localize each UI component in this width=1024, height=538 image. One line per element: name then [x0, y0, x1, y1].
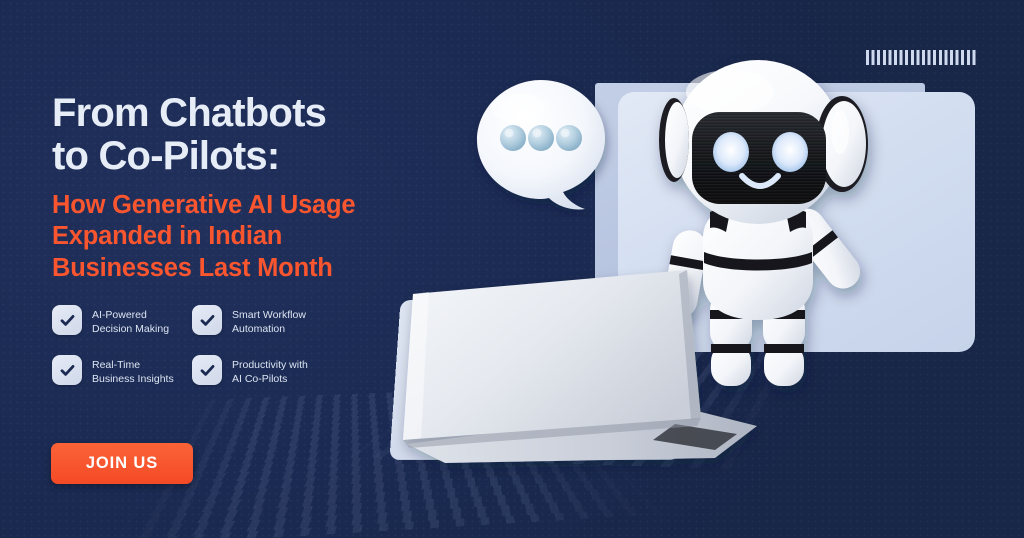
headline-line-2: to Co-Pilots: — [52, 135, 472, 178]
feature-list: AI-Powered Decision Making Smart Workflo… — [52, 305, 382, 405]
subheadline-block: How Generative AI Usage Expanded in Indi… — [52, 190, 472, 283]
subheadline-line-1: How Generative AI Usage — [52, 190, 472, 221]
feature-label: AI-Powered Decision Making — [92, 305, 169, 336]
headline-block: From Chatbots to Co-Pilots: How Generati… — [52, 92, 472, 284]
headline-line-1: From Chatbots — [52, 92, 472, 135]
check-icon — [192, 355, 222, 385]
feature-item-smart-workflow-automation: Smart Workflow Automation — [192, 305, 337, 355]
feature-label: Real-Time Business Insights — [92, 355, 174, 386]
feature-label: Productivity with AI Co-Pilots — [232, 355, 308, 386]
check-icon — [52, 305, 82, 335]
subheadline-line-2: Expanded in Indian — [52, 221, 472, 252]
feature-item-productivity-with-ai-co-pilots: Productivity with AI Co-Pilots — [192, 355, 337, 405]
feature-item-real-time-business-insights: Real-Time Business Insights — [52, 355, 192, 405]
subheadline-line-3: Businesses Last Month — [52, 253, 472, 284]
laptop-illustration — [385, 258, 765, 490]
check-icon — [52, 355, 82, 385]
check-icon — [192, 305, 222, 335]
feature-label: Smart Workflow Automation — [232, 305, 306, 336]
join-us-button[interactable]: JOIN US — [51, 443, 193, 484]
feature-item-ai-powered-decision-making: AI-Powered Decision Making — [52, 305, 192, 355]
chat-bubble-icon — [463, 72, 623, 217]
promo-banner: From Chatbots to Co-Pilots: How Generati… — [0, 0, 1024, 538]
